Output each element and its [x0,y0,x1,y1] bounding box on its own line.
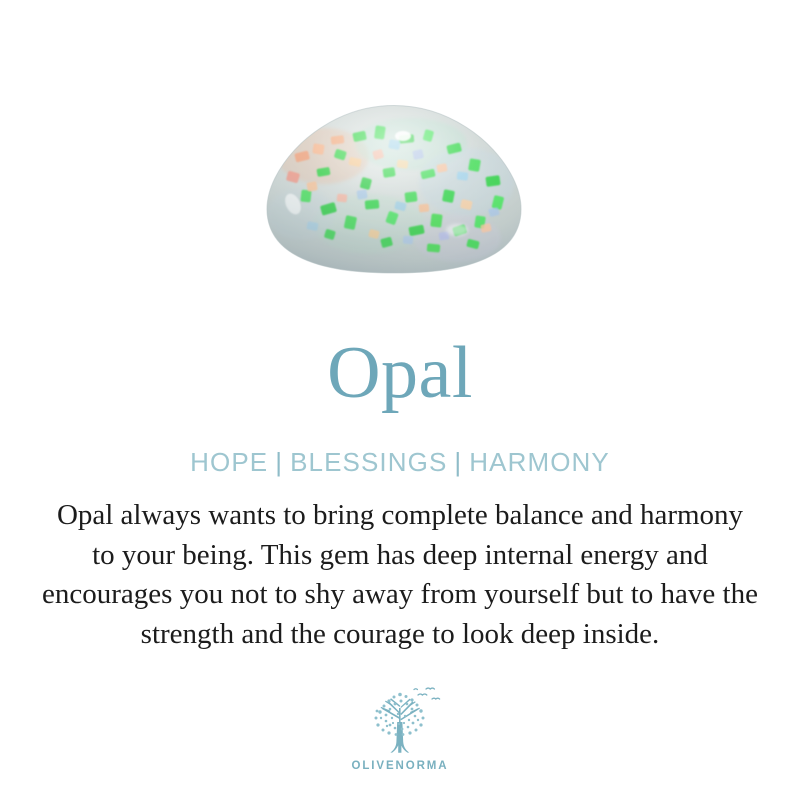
gemstone-image-area [0,0,800,320]
opal-cabochon-image [261,104,527,274]
brand-name: OLIVENORMA [352,760,449,772]
keyword-hope: HOPE [190,447,268,477]
gemstone-title: Opal [0,330,800,416]
description-line-4: strength and the courage to look deep in… [19,615,781,655]
tree-of-life-icon [356,682,444,758]
keyword-separator-2: | [447,447,469,477]
gemstone-description: Opal always wants to bring complete bala… [19,496,781,654]
opal-cabochon-icon [261,104,527,274]
description-line-1: Opal always wants to bring complete bala… [19,496,781,536]
gemstone-keywords: HOPE|BLESSINGS|HARMONY [0,446,800,478]
gemstone-info-card: Opal HOPE|BLESSINGS|HARMONY Opal always … [0,0,800,800]
birds-icon [414,688,440,699]
keyword-harmony: HARMONY [469,447,610,477]
description-line-2: to your being. This gem has deep interna… [19,536,781,576]
description-line-3: encourages you not to shy away from your… [19,575,781,615]
brand-logo: OLIVENORMA [340,682,460,772]
keyword-separator-1: | [268,447,290,477]
keyword-blessings: BLESSINGS [290,447,447,477]
